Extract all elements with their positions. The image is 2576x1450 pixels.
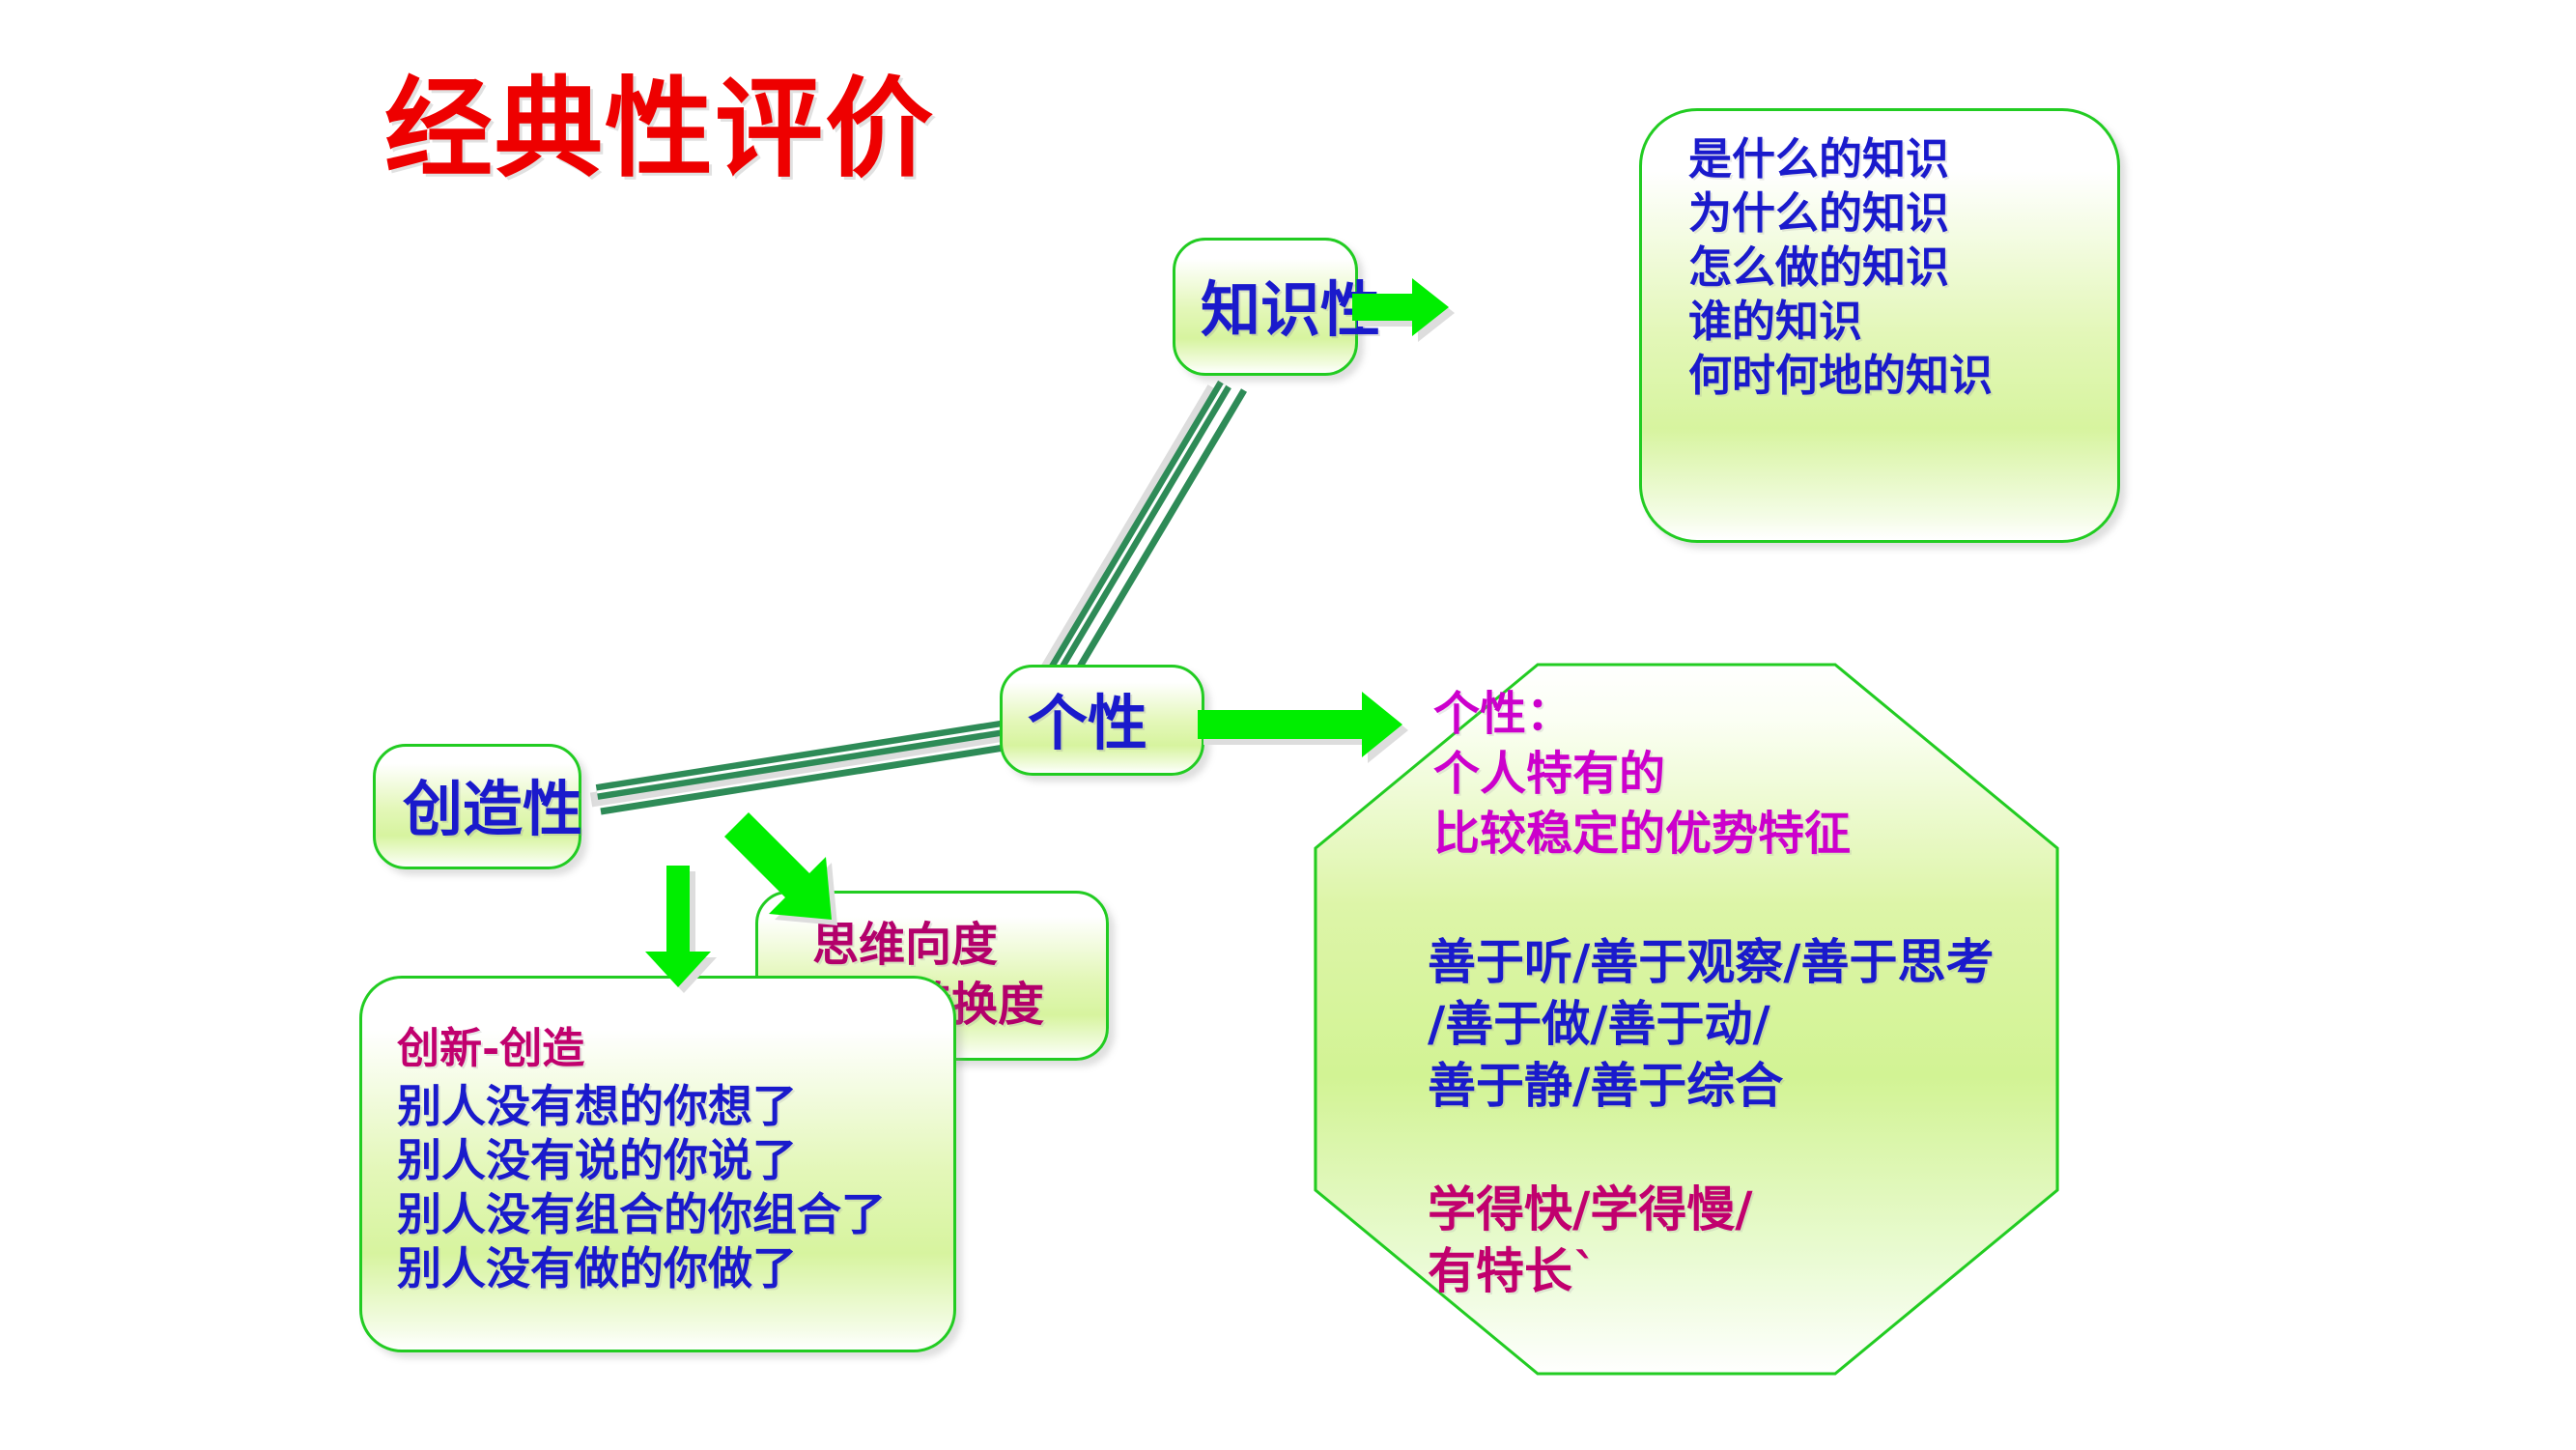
traits-crimson-lines: 学得快/学得慢/ 有特长` bbox=[1428, 1179, 1753, 1302]
detail-line: 谁的知识 bbox=[1688, 295, 1993, 349]
node-innovation-heading: 创新-创造 bbox=[397, 1025, 584, 1073]
node-creativity-label: 创造性 bbox=[403, 747, 579, 872]
traits-line: 有特长` bbox=[1428, 1240, 1753, 1302]
traits-line: 个人特有的 bbox=[1433, 744, 1851, 804]
node-traits[interactable]: 个性： 个人特有的 比较稳定的优势特征 善于听/善于观察/善于思考 /善于做/善… bbox=[1314, 663, 2059, 1376]
connector-personality-creativity bbox=[597, 726, 1016, 811]
dimension-line: 思维向度 bbox=[812, 915, 1044, 975]
detail-line: 何时何地的知识 bbox=[1688, 349, 1993, 403]
traits-line: 善于静/善于综合 bbox=[1428, 1055, 1995, 1117]
innovation-line: 别人没有做的你做了 bbox=[397, 1241, 886, 1295]
traits-line: /善于做/善于动/ bbox=[1428, 993, 1995, 1055]
traits-line: 学得快/学得慢/ bbox=[1428, 1179, 1753, 1240]
traits-blue-lines: 善于听/善于观察/善于思考 /善于做/善于动/ 善于静/善于综合 bbox=[1428, 931, 1995, 1117]
node-knowledge-detail[interactable]: 是什么的知识 为什么的知识 怎么做的知识 谁的知识 何时何地的知识 bbox=[1639, 108, 2120, 543]
node-personality-label: 个性 bbox=[1028, 668, 1202, 779]
node-knowledge[interactable]: 知识性 bbox=[1173, 238, 1358, 376]
slide-canvas: 经典性评价 知识性 是什么的知识 为什么的知识 怎么做的知识 谁的知识 何时何地… bbox=[0, 0, 2576, 1450]
traits-line: 善于听/善于观察/善于思考 bbox=[1428, 931, 1995, 993]
node-innovation[interactable]: 创新-创造 别人没有想的你想了 别人没有说的你说了 别人没有组合的你组合了 别人… bbox=[359, 976, 956, 1352]
page-title: 经典性评价 bbox=[384, 75, 935, 184]
traits-line: 个性： bbox=[1433, 684, 1851, 744]
traits-magenta-lines: 个性： 个人特有的 比较稳定的优势特征 bbox=[1433, 684, 1851, 864]
detail-line: 为什么的知识 bbox=[1688, 186, 1993, 241]
connector-personality-creativity-shadow bbox=[591, 734, 1005, 800]
innovation-line: 别人没有说的你说了 bbox=[397, 1133, 886, 1187]
node-knowledge-detail-lines: 是什么的知识 为什么的知识 怎么做的知识 谁的知识 何时何地的知识 bbox=[1688, 132, 1993, 403]
detail-line: 是什么的知识 bbox=[1688, 132, 1993, 186]
node-knowledge-label: 知识性 bbox=[1201, 241, 1355, 379]
node-innovation-lines: 别人没有想的你想了 别人没有说的你说了 别人没有组合的你组合了 别人没有做的你做… bbox=[397, 1079, 886, 1295]
octagon-text: 个性： 个人特有的 比较稳定的优势特征 善于听/善于观察/善于思考 /善于做/善… bbox=[1314, 663, 2279, 1376]
detail-line: 怎么做的知识 bbox=[1688, 241, 1993, 295]
innovation-line: 别人没有组合的你组合了 bbox=[397, 1187, 886, 1241]
innovation-line: 别人没有想的你想了 bbox=[397, 1079, 886, 1133]
traits-line: 比较稳定的优势特征 bbox=[1433, 804, 1851, 864]
arrow-creativity-to-innovation-icon bbox=[645, 866, 717, 993]
node-creativity[interactable]: 创造性 bbox=[373, 744, 581, 869]
node-personality[interactable]: 个性 bbox=[1000, 665, 1204, 776]
